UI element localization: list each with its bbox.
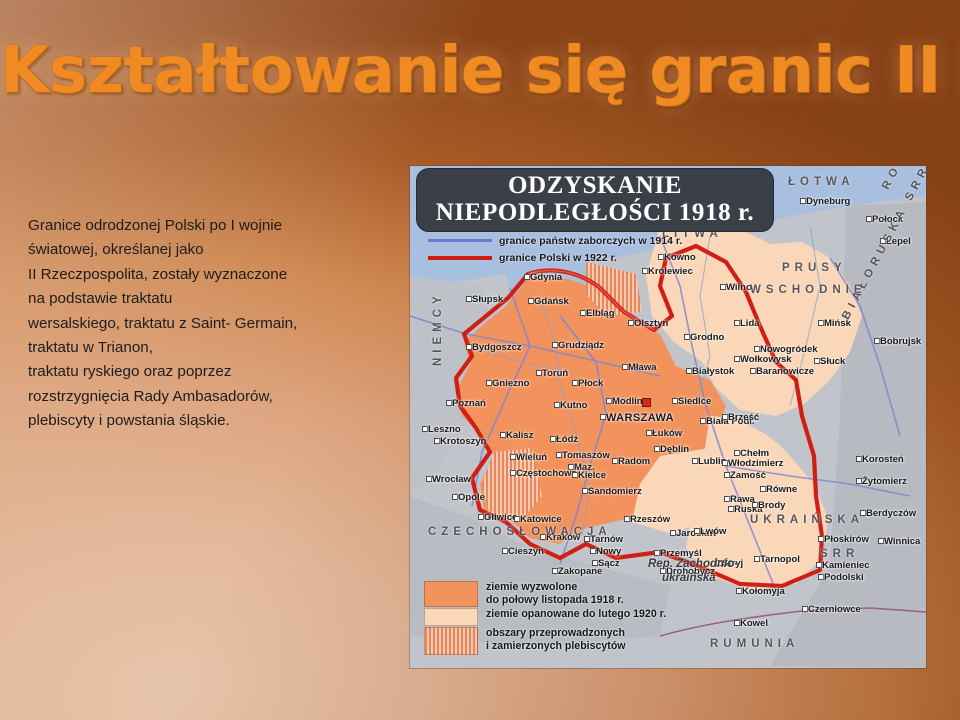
city-label: Brody [758, 500, 785, 511]
city-label: Dyneburg [806, 196, 850, 207]
city-label: Równe [766, 484, 797, 495]
map-title-line2: NIEPODLEGŁOŚCI 1918 r. [417, 199, 773, 227]
country-label: PRUSY [782, 262, 847, 274]
country-label: CZECHOSŁOWACJA [428, 526, 612, 538]
city-label: Wrocław [432, 474, 471, 485]
city-label: Królewiec [648, 266, 693, 277]
capital-marker-icon [642, 398, 651, 407]
legend-label-line: do połowy listopada 1918 r. [486, 594, 624, 606]
country-label: NIEMCY [432, 291, 444, 366]
city-label: Wieluń [516, 452, 547, 463]
legend-label: ziemie wyzwolone do połowy listopada 191… [486, 581, 624, 607]
body-line: traktatu ryskiego oraz poprzez [28, 360, 388, 384]
city-label: Bydgoszcz [472, 342, 522, 353]
city-label: Elbląg [586, 308, 615, 319]
city-label: Gliwice [484, 512, 517, 523]
city-label: Czerniowce [808, 604, 861, 615]
city-label: WARSZAWA [606, 412, 674, 424]
hatched-area-swatch-icon [424, 627, 478, 655]
city-label: Włodzimierz [728, 458, 783, 469]
city-label: Słupsk [472, 294, 503, 305]
legend-label-line: ziemie wyzwolone [486, 581, 577, 593]
country-label: RUMUNIA [710, 638, 799, 650]
city-label: Korosteń [862, 454, 904, 465]
country-label: UKRAIŃSKA [750, 514, 864, 526]
city-label: Mława [628, 362, 657, 373]
orange-area-swatch-icon [424, 581, 478, 607]
city-label: Podolski [824, 572, 864, 583]
legend-label: ziemie opanowane do lutego 1920 r. [486, 608, 666, 621]
city-label: Kielce [578, 470, 606, 481]
map-title-plaque: ODZYSKANIE NIEPODLEGŁOŚCI 1918 r. [416, 168, 774, 232]
city-label: Łódź [556, 434, 578, 445]
map-title-line1: ODZYSKANIE [417, 172, 773, 200]
legend-row: obszary przeprowadzonych i zamierzonych … [424, 627, 666, 655]
city-label: Grodno [690, 332, 724, 343]
body-line: wersalskiego, traktatu z Saint- Germain, [28, 312, 388, 336]
city-label: Gniezno [492, 378, 529, 389]
country-label: ukraińska [662, 572, 716, 584]
red-line-swatch-icon [428, 256, 492, 260]
city-label: Kalisz [506, 430, 533, 441]
city-label: Kutno [560, 400, 587, 411]
city-label: Płock [578, 378, 603, 389]
city-label: Modlin [612, 396, 643, 407]
city-label: Winnica [884, 536, 920, 547]
city-label: Nowogródek [760, 344, 818, 355]
city-label: Krotoszyn [440, 436, 486, 447]
body-line: plebiscyty i powstania śląskie. [28, 409, 388, 433]
body-line: na podstawie traktatu [28, 287, 388, 311]
page-title: Kształtowanie się granic II RP [0, 34, 960, 108]
country-label: ŁOTWA [788, 176, 855, 188]
city-label: Lwów [700, 526, 726, 537]
country-label: BIAŁORUSKA SRR [840, 166, 926, 322]
city-label: Dęblin [660, 444, 689, 455]
city-label: Gdańsk [534, 296, 569, 307]
city-label: Płoskirów [824, 534, 869, 545]
historical-map-image: ODZYSKANIE NIEPODLEGŁOŚCI 1918 r. granic… [410, 166, 926, 668]
body-line: II Rzeczpospolita, zostały wyznaczone [28, 263, 388, 287]
city-label: Kołomyja [742, 586, 785, 597]
legend-row: ziemie wyzwolone do połowy listopada 191… [424, 581, 666, 607]
city-label: Bobrujsk [880, 336, 921, 347]
body-line: Granice odrodzonej Polski po I wojnie [28, 214, 388, 238]
legend-row: granice Polski w 1922 r. [428, 249, 682, 266]
city-label: Tarnopol [760, 554, 800, 565]
city-label: Żytomierz [862, 476, 907, 487]
city-label: Zakopane [558, 566, 602, 577]
city-label: Poznań [452, 398, 486, 409]
body-line: światowej, określanej jako [28, 238, 388, 262]
legend-row: ziemie opanowane do lutego 1920 r. [424, 608, 666, 626]
city-label: Grudziądz [558, 340, 604, 351]
city-label: Sandomierz [588, 486, 642, 497]
map-legend-areas: ziemie wyzwolone do połowy listopada 191… [424, 581, 666, 656]
city-label: Radom [618, 456, 650, 467]
city-label: Katowice [520, 514, 562, 525]
city-label: Częstochowa [516, 468, 577, 479]
peach-area-swatch-icon [424, 608, 478, 626]
legend-row: granice państw zaborczych w 1914 r. [428, 232, 682, 249]
legend-label-line: i zamierzonych plebiscytów [486, 640, 626, 652]
country-label: WSCHODNIE [750, 284, 867, 296]
city-label: Olsztyn [634, 318, 668, 329]
blue-line-swatch-icon [428, 239, 492, 242]
city-label: Siedlce [678, 396, 711, 407]
city-label: Rzeszów [630, 514, 670, 525]
city-label: Tomaszów [562, 450, 610, 461]
city-label: Wilno [726, 282, 752, 293]
city-label: Łuków [652, 428, 682, 439]
city-label: Nowy [596, 546, 621, 557]
city-label: Lida [740, 318, 760, 329]
city-label: Kamieniec [822, 560, 870, 571]
body-line: rozstrzygnięcia Rady Ambasadorów, [28, 385, 388, 409]
city-label: Kowel [740, 618, 768, 629]
city-label: Wołkowysk [740, 354, 792, 365]
city-label: Słuck [820, 356, 845, 367]
country-label: Rep. Zachodnio- [648, 558, 738, 570]
city-label: Berdyczów [866, 508, 916, 519]
city-label: Opole [458, 492, 485, 503]
country-label: SRR [820, 548, 859, 560]
city-label: Białystok [692, 366, 734, 377]
slide-canvas: Kształtowanie się granic II RP Granice o… [0, 0, 960, 720]
city-label: Cieszyn [508, 546, 544, 557]
legend-label: obszary przeprowadzonych i zamierzonych … [486, 627, 626, 653]
body-line: traktatu w Trianon, [28, 336, 388, 360]
body-text: Granice odrodzonej Polski po I wojnie św… [28, 214, 388, 434]
legend-label: granice Polski w 1922 r. [499, 252, 617, 264]
city-label: Toruń [542, 368, 568, 379]
city-label: Brześć [728, 412, 759, 423]
legend-label-line: obszary przeprowadzonych [486, 627, 625, 639]
legend-label: granice państw zaborczych w 1914 r. [499, 235, 682, 247]
city-label: Baranowicze [756, 366, 814, 377]
city-label: Gdynia [530, 272, 562, 283]
map-legend-borders: granice państw zaborczych w 1914 r. gran… [428, 232, 682, 266]
city-label: Leszno [428, 424, 461, 435]
city-label: Zamość [730, 470, 766, 481]
